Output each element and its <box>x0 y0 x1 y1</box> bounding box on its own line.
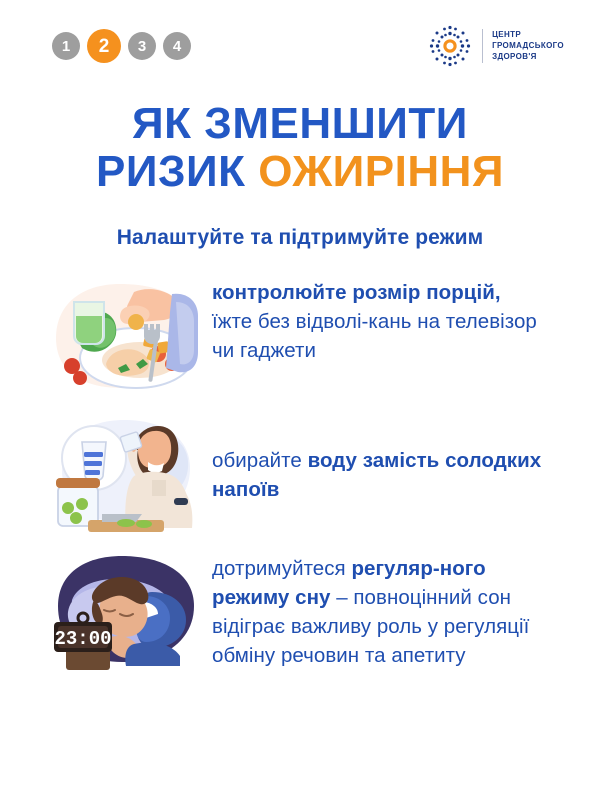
page-title: ЯК ЗМЕНШИТИ РИЗИК ОЖИРІННЯ <box>0 100 600 197</box>
person-sleeping-alarm-clock-illustration: 23:00 <box>48 548 200 672</box>
logo-line-3: ЗДОРОВ'Я <box>492 52 564 62</box>
step-3[interactable]: 3 <box>128 32 156 60</box>
list-item-lead: обирайте <box>212 449 308 472</box>
list-item-text: обирайте воду замість солодких напоїв <box>200 410 542 504</box>
title-line-2-accent: ОЖИРІННЯ <box>258 147 504 196</box>
alarm-clock-time: 23:00 <box>54 628 111 650</box>
step-3-label: 3 <box>138 39 146 54</box>
logo-wordmark: ЦЕНТР ГРОМАДСЬКОГО ЗДОРОВ'Я <box>492 30 564 61</box>
hand-fork-plate-of-food-illustration <box>48 272 200 396</box>
step-indicator: 1 2 3 4 <box>52 29 191 63</box>
title-line-2: РИЗИК ОЖИРІННЯ <box>0 148 600 196</box>
radial-dot-sun-logo-icon <box>427 23 473 69</box>
header: 1 2 3 4 <box>0 0 600 92</box>
step-2-active[interactable]: 2 <box>87 29 121 63</box>
title-line-2-plain: РИЗИК <box>96 147 258 196</box>
list-item-rest: їжте без відволі-кань на телевізор чи га… <box>212 310 537 362</box>
page-subtitle: Налаштуйте та підтримуйте режим <box>0 226 600 250</box>
logo-line-1: ЦЕНТР <box>492 30 564 40</box>
logo-divider <box>482 29 483 63</box>
list-item-lead: дотримуйтеся <box>212 557 351 580</box>
list-item: обирайте воду замість солодких напоїв <box>0 410 600 534</box>
logo-line-2: ГРОМАДСЬКОГО <box>492 41 564 51</box>
list-item-bold-lead: контролюйте розмір порцій, <box>212 281 501 304</box>
organization-logo: ЦЕНТР ГРОМАДСЬКОГО ЗДОРОВ'Я <box>427 23 564 69</box>
list-item-text: контролюйте розмір порцій, їжте без відв… <box>200 272 542 365</box>
step-2-label: 2 <box>99 37 110 56</box>
man-drinking-water-illustration <box>48 410 200 534</box>
list-item: контролюйте розмір порцій, їжте без відв… <box>0 272 600 396</box>
step-1-label: 1 <box>62 39 70 54</box>
list-item-text: дотримуйтеся регуляр-ного режиму сну – п… <box>200 548 542 670</box>
advice-list: контролюйте розмір порцій, їжте без відв… <box>0 272 600 672</box>
title-line-1: ЯК ЗМЕНШИТИ <box>0 100 600 148</box>
step-4[interactable]: 4 <box>163 32 191 60</box>
step-1[interactable]: 1 <box>52 32 80 60</box>
step-4-label: 4 <box>173 39 181 54</box>
list-item: 23:00 дотримуйтеся регуляр-ного режиму с… <box>0 548 600 672</box>
infographic-poster: 1 2 3 4 <box>0 0 600 800</box>
